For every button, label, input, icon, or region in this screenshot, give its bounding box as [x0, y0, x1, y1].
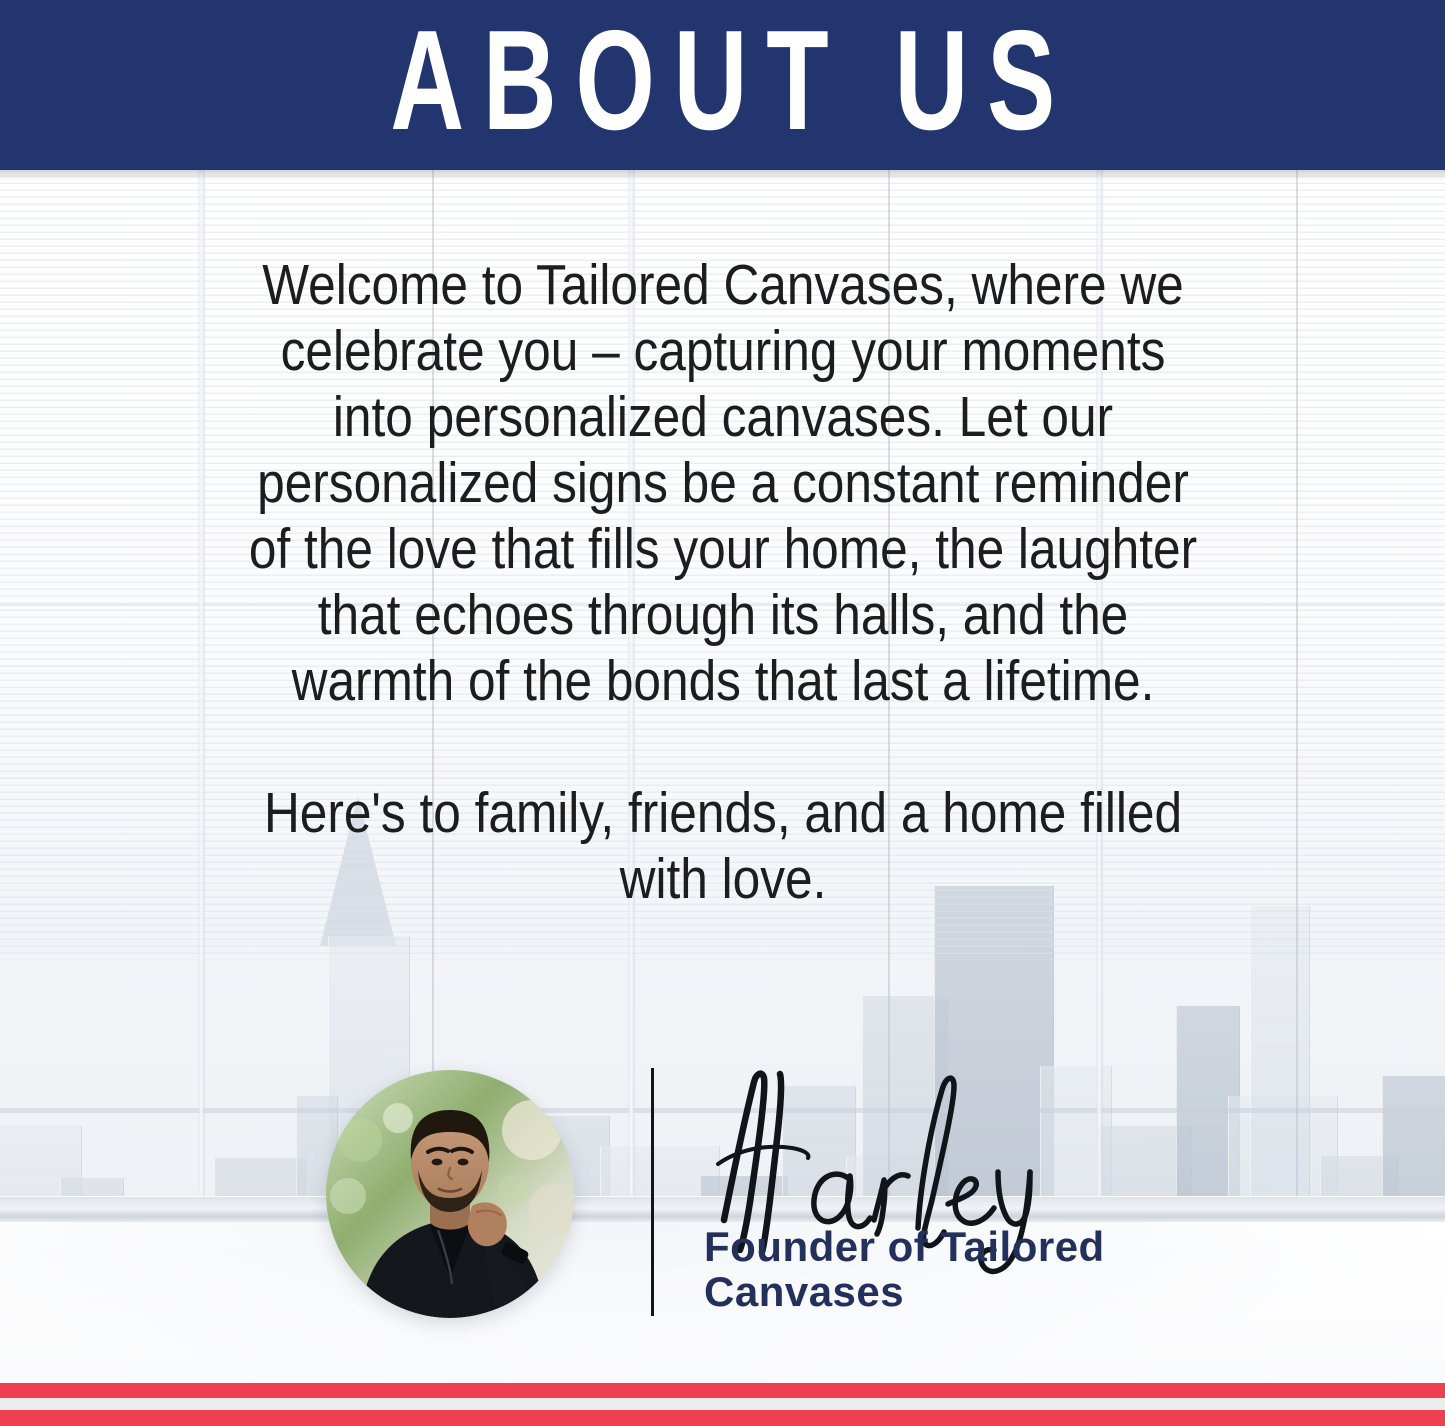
footer-stripe-top	[0, 1383, 1445, 1398]
paragraph-1-line-1: Welcome to Tailored Canvases, where we	[247, 252, 1199, 318]
founder-role: Founder of Tailored Canvases	[704, 1224, 1224, 1314]
paragraph-2-line-2: with love.	[247, 846, 1199, 912]
paragraph-1-line-6: that echoes through its halls, and the	[247, 582, 1199, 648]
signature-divider	[651, 1068, 654, 1316]
avatar	[326, 1070, 574, 1318]
about-us-poster: ABOUT US Welcome to Tailored Canvases, w…	[0, 0, 1445, 1426]
header-bar: ABOUT US	[0, 0, 1445, 170]
paragraph-1-line-3: into personalized canvases. Let our	[247, 384, 1199, 450]
paragraph-1-line-2: celebrate you – capturing your moments	[247, 318, 1199, 384]
paragraph-1-line-4: personalized signs be a constant reminde…	[247, 450, 1199, 516]
founder-role-line-2: Canvases	[704, 1269, 1224, 1314]
paragraph-1-line-7: warmth of the bonds that last a lifetime…	[247, 648, 1199, 714]
paragraph-2-line-1: Here's to family, friends, and a home fi…	[247, 780, 1199, 846]
paragraph-spacer	[247, 714, 1199, 780]
header-shadow	[0, 170, 1445, 180]
page-title: ABOUT US	[371, 10, 1073, 152]
about-body-copy: Welcome to Tailored Canvases, where we c…	[247, 252, 1199, 912]
footer-stripe-gap	[0, 1398, 1445, 1410]
founder-role-line-1: Founder of Tailored	[704, 1224, 1224, 1269]
footer-stripe-bottom	[0, 1410, 1445, 1426]
paragraph-1-line-5: of the love that fills your home, the la…	[247, 516, 1199, 582]
